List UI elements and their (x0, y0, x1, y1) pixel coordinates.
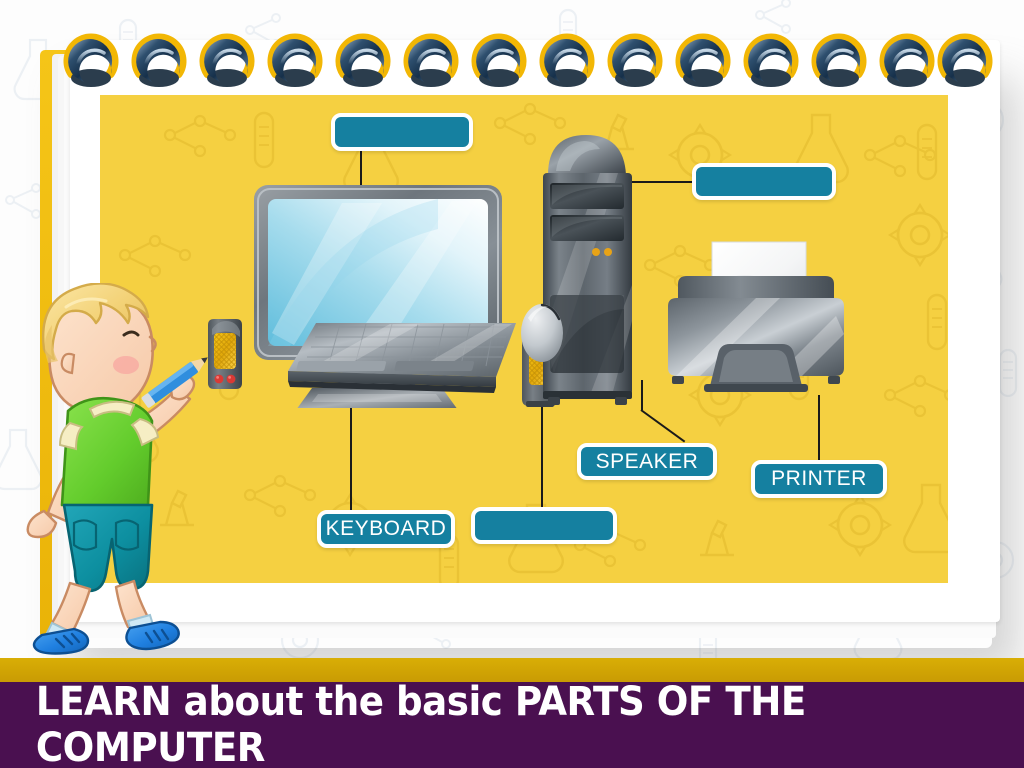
keyboard (280, 315, 520, 400)
label-printer[interactable]: PRINTER (751, 460, 887, 498)
banner-title: LEARN about the basic PARTS OF THE COMPU… (36, 682, 988, 768)
label-printer-text: PRINTER (771, 467, 867, 491)
leader-line-keyboard (350, 398, 352, 513)
spiral-binding (60, 22, 1010, 100)
boy-character (4, 283, 234, 655)
leader-line-printer (818, 395, 820, 463)
label-speaker-text: SPEAKER (596, 450, 699, 474)
label-keyboard-text: KEYBOARD (326, 517, 447, 541)
label-mouse[interactable] (471, 507, 617, 544)
computer-mouse (518, 302, 566, 364)
label-cpu[interactable] (692, 163, 836, 200)
label-keyboard[interactable]: KEYBOARD (317, 510, 455, 548)
label-monitor[interactable] (331, 113, 473, 151)
label-speaker[interactable]: SPEAKER (577, 443, 717, 480)
printer (656, 240, 856, 400)
slide-canvas: PRINTER SPEAKER KEYBOARD (0, 0, 1024, 768)
leader-line-speaker (641, 380, 643, 410)
computer-tower (540, 125, 635, 410)
